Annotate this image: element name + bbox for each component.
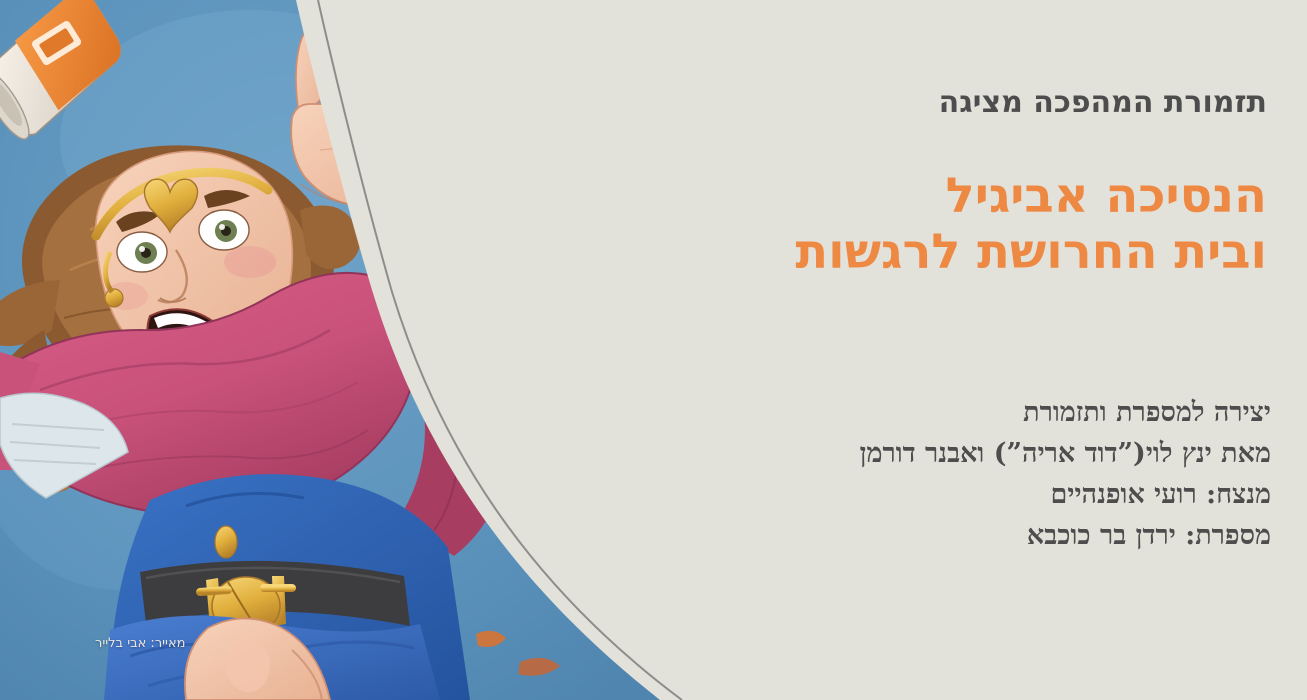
right-eye — [199, 210, 249, 250]
princess-illustration — [0, 0, 660, 700]
gold-button — [215, 526, 237, 558]
concert-poster: תזמורת המהפכה מציגה הנסיכה אביגיל ובית ה… — [0, 0, 1307, 700]
illustrator-credit: מאייר: אבי בלייר — [95, 636, 186, 651]
title-line-1: הנסיכה אביגיל — [567, 168, 1267, 225]
headline-block: תזמורת המהפכה מציגה הנסיכה אביגיל ובית ה… — [567, 84, 1267, 281]
title-line-2: ובית החרושת לרגשות — [567, 224, 1267, 281]
credit-line: מנצח: רועי אופנהיים — [511, 474, 1271, 515]
left-eye — [117, 232, 167, 272]
credit-line: מאת ינץ לוי(”דוד אריה”) ואבנר דורמן — [511, 433, 1271, 474]
credit-line: מספרת: ירדן בר כוכבא — [511, 515, 1271, 556]
credits-block: יצירה למספרת ותזמורת מאת ינץ לוי(”דוד אר… — [511, 392, 1271, 556]
presenter-line: תזמורת המהפכה מציגה — [567, 84, 1267, 122]
credit-line: יצירה למספרת ותזמורת — [511, 392, 1271, 433]
